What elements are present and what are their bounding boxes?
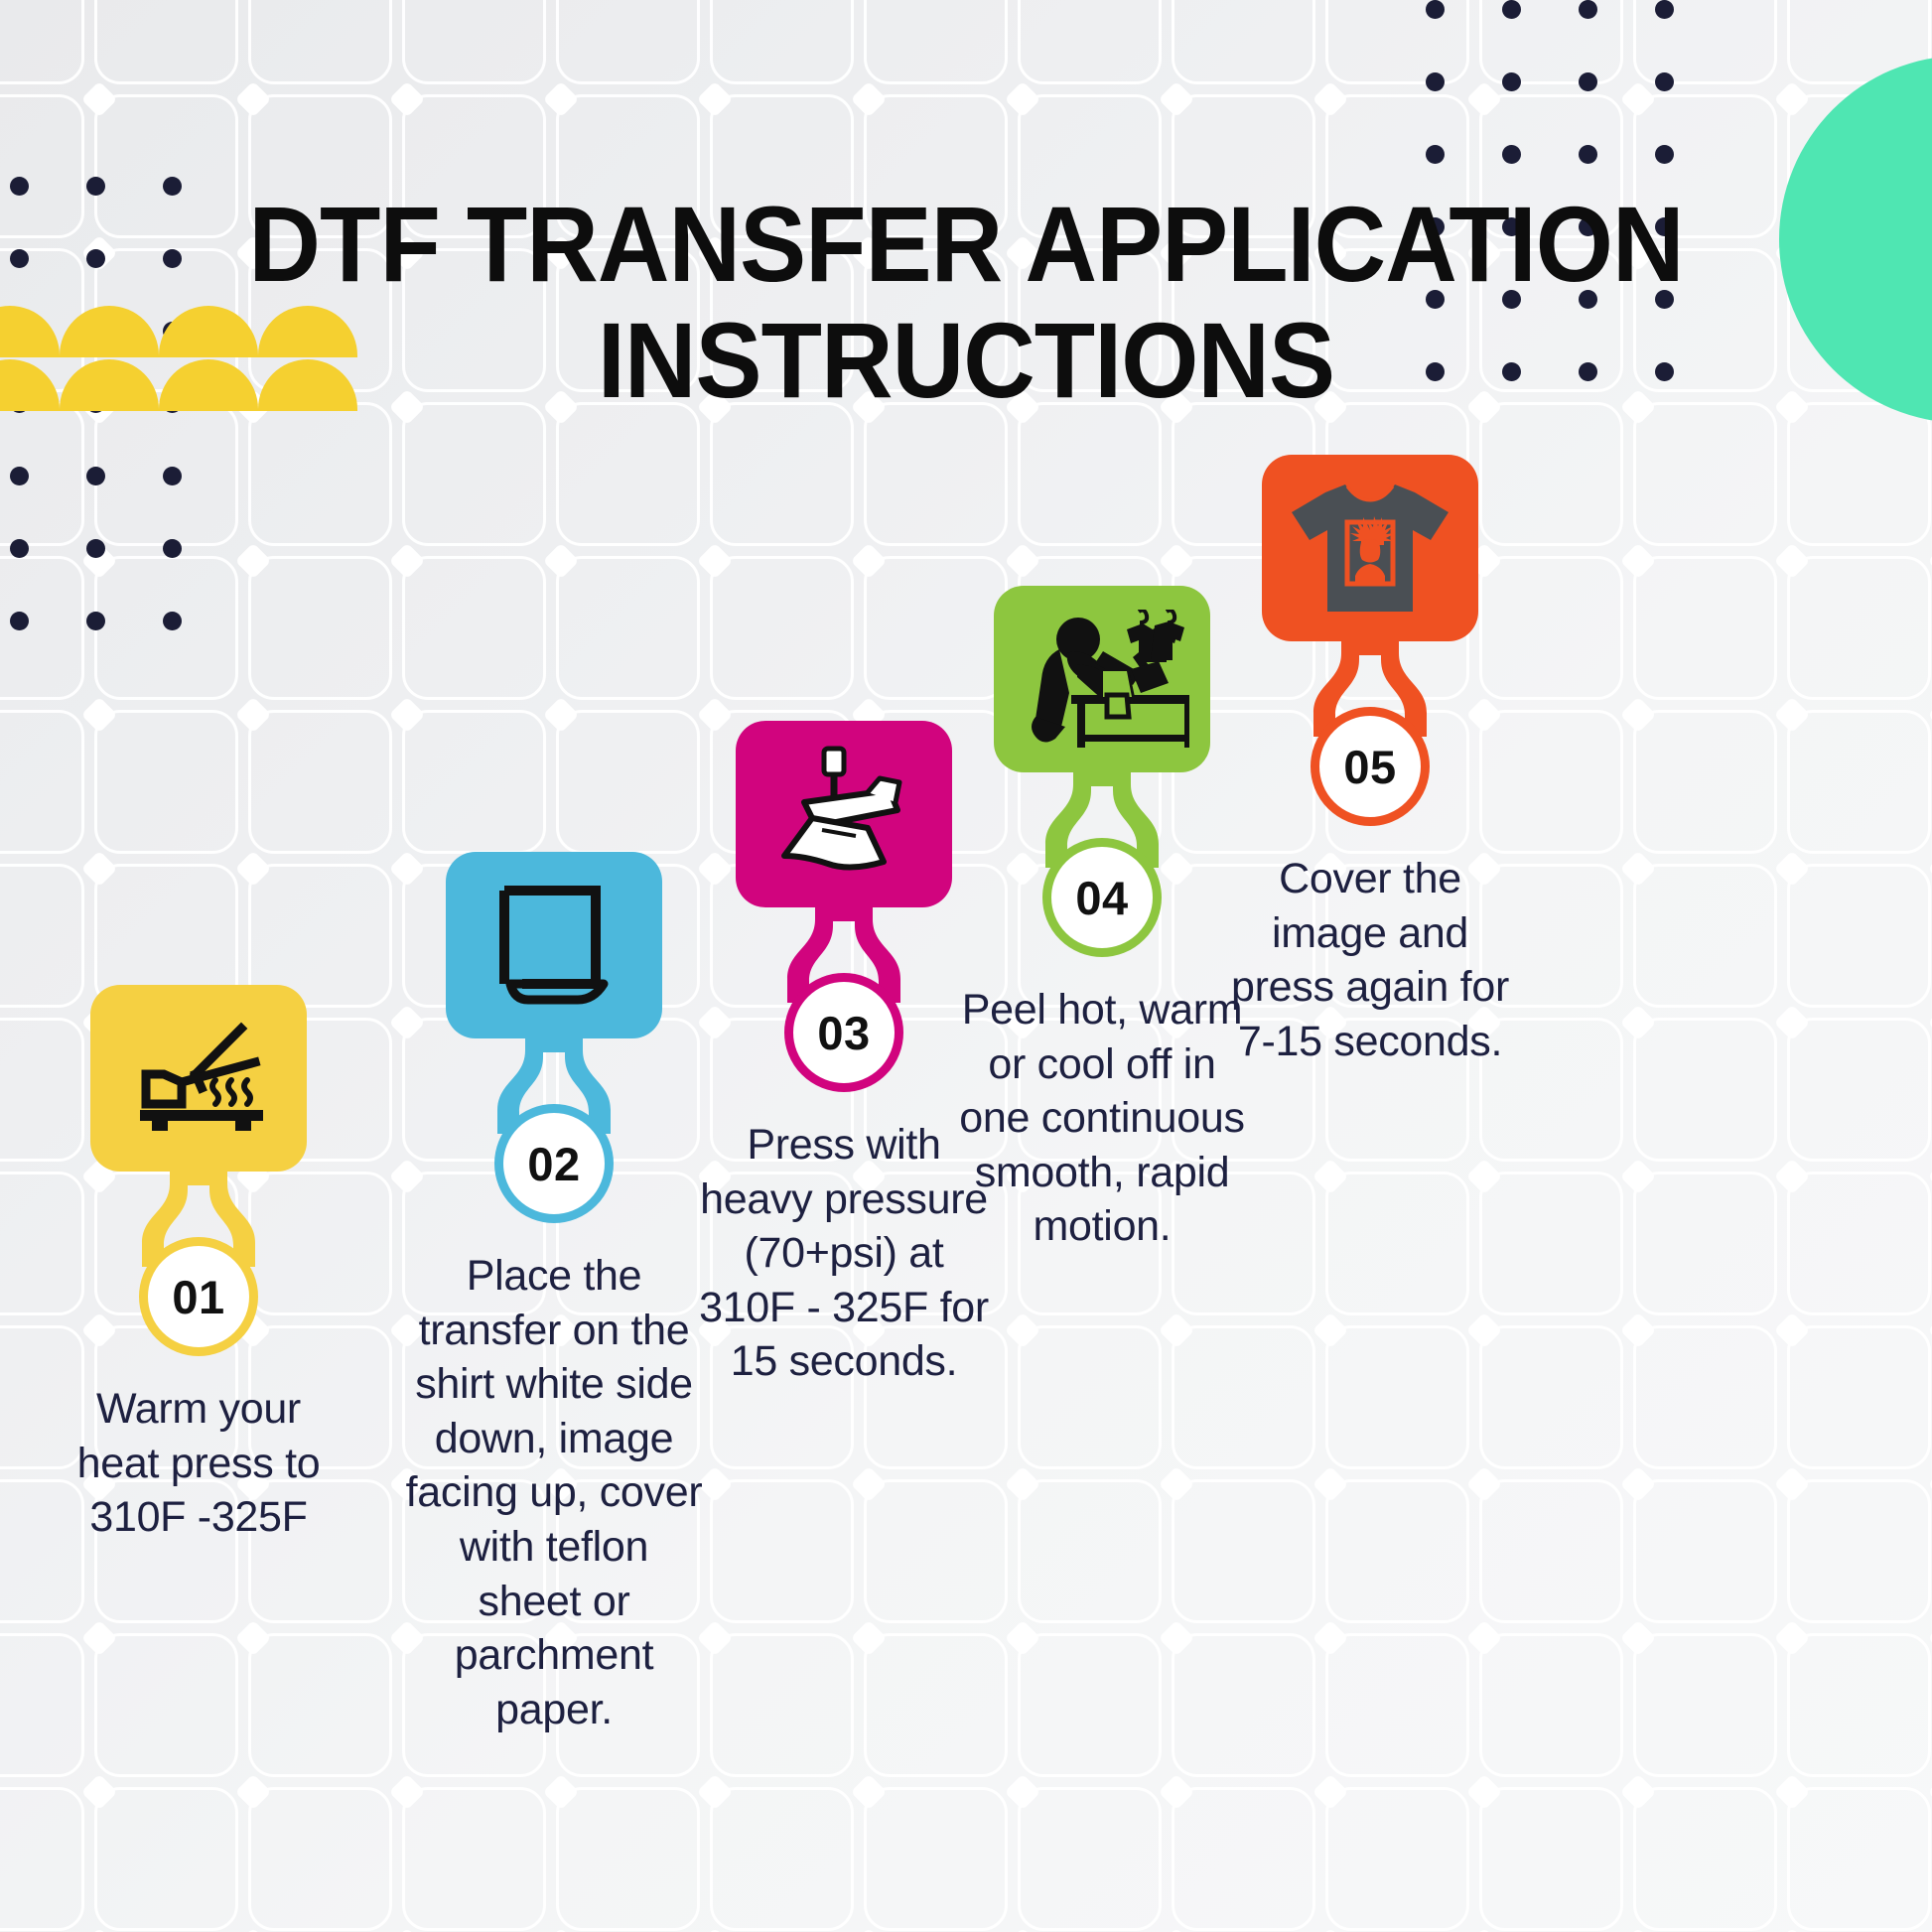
grid-tile: [710, 402, 854, 546]
grid-tile: [1479, 1479, 1623, 1623]
grid-node: [389, 697, 426, 734]
grid-tile: [1787, 402, 1931, 546]
decor-dot: [1655, 0, 1674, 19]
decor-dot: [1502, 145, 1521, 164]
grid-tile: [1172, 1787, 1315, 1931]
grid-node: [81, 1928, 118, 1932]
grid-node: [1928, 1620, 1932, 1657]
grid-node: [81, 697, 118, 734]
grid-tile: [556, 1787, 700, 1931]
grid-node: [851, 1620, 888, 1657]
grid-tile: [402, 402, 546, 546]
step-number-badge-03[interactable]: 03: [784, 973, 903, 1092]
grid-node: [1312, 1159, 1349, 1195]
grid-tile: [248, 710, 392, 854]
grid-node: [1005, 1774, 1041, 1811]
grid-node: [1466, 1928, 1503, 1932]
grid-node: [697, 81, 734, 118]
grid-node: [1928, 851, 1932, 888]
grid-tile: [1479, 0, 1623, 84]
grid-tile: [1787, 1172, 1931, 1315]
grid-tile: [1018, 1633, 1162, 1777]
grid-tile: [0, 710, 84, 854]
grid-tile: [0, 0, 84, 84]
grid-tile: [1787, 1633, 1931, 1777]
decor-dot: [163, 467, 182, 485]
grid-tile: [402, 556, 546, 700]
step-icon-card-02[interactable]: [446, 852, 662, 1038]
grid-node: [1005, 1928, 1041, 1932]
grid-node: [1774, 1466, 1811, 1503]
step-caption-05: Cover the image and press again for 7-15…: [1221, 852, 1519, 1068]
grid-node: [1774, 851, 1811, 888]
step-module-02[interactable]: 02Place the transfer on the shirt white …: [405, 852, 703, 1736]
grid-node: [1312, 1774, 1349, 1811]
decor-dot: [163, 539, 182, 558]
grid-tile: [248, 1633, 392, 1777]
grid-tile: [556, 402, 700, 546]
grid-node: [851, 1928, 888, 1932]
grid-node: [1005, 543, 1041, 580]
grid-node: [1466, 1774, 1503, 1811]
grid-node: [1312, 1620, 1349, 1657]
grid-node: [1928, 1774, 1932, 1811]
grid-node: [1620, 543, 1657, 580]
grid-node: [543, 1928, 580, 1932]
grid-node: [851, 81, 888, 118]
grid-tile: [1633, 864, 1777, 1008]
decor-dot: [1426, 72, 1445, 91]
step-number-badge-05[interactable]: 05: [1311, 707, 1430, 826]
decor-dot: [1655, 145, 1674, 164]
grid-tile: [1018, 0, 1162, 84]
decor-semicircle: [0, 359, 60, 411]
grid-node: [81, 1774, 118, 1811]
grid-node: [543, 81, 580, 118]
grid-tile: [1787, 556, 1931, 700]
decor-dot: [86, 467, 105, 485]
grid-tile: [864, 402, 1008, 546]
grid-tile: [1479, 1633, 1623, 1777]
decor-dot: [1502, 72, 1521, 91]
grid-tile: [1633, 1018, 1777, 1162]
decor-dot: [1426, 145, 1445, 164]
grid-tile: [1787, 1479, 1931, 1623]
grid-tile: [1325, 1325, 1469, 1469]
step-icon-card-01[interactable]: [90, 985, 307, 1172]
grid-tile: [1325, 0, 1469, 84]
grid-node: [1312, 1312, 1349, 1349]
step-number-label: 05: [1343, 740, 1396, 794]
grid-tile: [1633, 1633, 1777, 1777]
step-caption-04: Peel hot, warm or cool off in one contin…: [953, 983, 1251, 1254]
decor-dot: [10, 539, 29, 558]
grid-node: [235, 81, 272, 118]
grid-node: [235, 851, 272, 888]
grid-tile: [1787, 710, 1931, 854]
step-number-label: 01: [172, 1270, 224, 1324]
decor-dot: [1426, 0, 1445, 19]
grid-tile: [1633, 1479, 1777, 1623]
grid-node: [1928, 543, 1932, 580]
grid-node: [697, 1928, 734, 1932]
grid-tile: [1479, 1787, 1623, 1931]
grid-node: [543, 697, 580, 734]
grid-node: [1620, 1312, 1657, 1349]
grid-tile: [556, 710, 700, 854]
grid-tile: [864, 1787, 1008, 1931]
heat-press-pressing-icon: [764, 745, 923, 884]
grid-tile: [1325, 1787, 1469, 1931]
grid-node: [1928, 697, 1932, 734]
grid-node: [235, 697, 272, 734]
decor-dot: [1655, 72, 1674, 91]
grid-tile: [94, 710, 238, 854]
step-number-label: 02: [527, 1137, 580, 1191]
grid-node: [1466, 1159, 1503, 1195]
grid-node: [1312, 81, 1349, 118]
grid-tile: [1018, 1787, 1162, 1931]
grid-tile: [1787, 864, 1931, 1008]
grid-node: [1774, 81, 1811, 118]
grid-node: [1466, 1466, 1503, 1503]
grid-tile: [1018, 402, 1162, 546]
step-icon-card-04[interactable]: [994, 586, 1210, 772]
grid-node: [1774, 543, 1811, 580]
grid-tile: [248, 402, 392, 546]
grid-node: [851, 1466, 888, 1503]
decor-dot: [1579, 0, 1597, 19]
grid-node: [1005, 1466, 1041, 1503]
grid-tile: [1325, 1172, 1469, 1315]
grid-node: [543, 1774, 580, 1811]
grid-tile: [1172, 1325, 1315, 1469]
grid-node: [1928, 1159, 1932, 1195]
grid-node: [1620, 1005, 1657, 1041]
grid-tile: [94, 1633, 238, 1777]
grid-node: [1620, 697, 1657, 734]
grid-tile: [1633, 710, 1777, 854]
grid-node: [1005, 1620, 1041, 1657]
grid-node: [1774, 1005, 1811, 1041]
step-module-03[interactable]: 03Press with heavy pressure (70+psi) at …: [695, 721, 993, 1389]
grid-tile: [94, 0, 238, 84]
decor-semicircle: [0, 306, 60, 357]
grid-node: [1928, 1005, 1932, 1041]
grid-tile: [1787, 1018, 1931, 1162]
step-number-badge-04[interactable]: 04: [1042, 838, 1162, 957]
grid-tile: [710, 556, 854, 700]
grid-node: [1774, 697, 1811, 734]
grid-tile: [1172, 0, 1315, 84]
page-title: DTF TRANSFER APPLICATION INSTRUCTIONS: [68, 187, 1864, 418]
grid-node: [697, 543, 734, 580]
grid-node: [1620, 1466, 1657, 1503]
decor-dot: [10, 612, 29, 630]
grid-tile: [1172, 1479, 1315, 1623]
grid-tile: [710, 1479, 854, 1623]
grid-tile: [1787, 1325, 1931, 1469]
grid-node: [1466, 81, 1503, 118]
grid-tile: [1018, 1479, 1162, 1623]
grid-node: [1312, 1466, 1349, 1503]
grid-node: [81, 851, 118, 888]
grid-tile: [0, 1633, 84, 1777]
printed-tshirt-icon: [1286, 479, 1454, 618]
decor-dot: [10, 467, 29, 485]
step-number-label: 04: [1075, 871, 1128, 925]
grid-node: [1620, 1159, 1657, 1195]
grid-node: [235, 1928, 272, 1932]
grid-node: [1774, 1928, 1811, 1932]
decor-dot: [10, 249, 29, 268]
grid-node: [1620, 851, 1657, 888]
grid-tile: [1787, 1787, 1931, 1931]
grid-node: [389, 81, 426, 118]
grid-node: [1466, 1620, 1503, 1657]
heat-press-icon: [124, 1019, 273, 1138]
grid-node: [1774, 1159, 1811, 1195]
grid-node: [235, 543, 272, 580]
grid-tile: [248, 1787, 392, 1931]
grid-node: [389, 1928, 426, 1932]
grid-tile: [710, 1787, 854, 1931]
person-peeling-transfer-icon: [1016, 610, 1189, 749]
decor-dot: [10, 177, 29, 196]
grid-tile: [248, 0, 392, 84]
grid-tile: [1633, 402, 1777, 546]
grid-tile: [864, 1633, 1008, 1777]
step-module-01[interactable]: 01Warm your heat press to 310F -325F: [50, 985, 347, 1545]
grid-tile: [556, 0, 700, 84]
grid-node: [1312, 1928, 1349, 1932]
grid-tile: [1479, 1172, 1623, 1315]
grid-node: [1620, 1774, 1657, 1811]
grid-tile: [1479, 1325, 1623, 1469]
grid-tile: [864, 1479, 1008, 1623]
grid-tile: [94, 1787, 238, 1931]
grid-node: [543, 543, 580, 580]
grid-tile: [1325, 1479, 1469, 1623]
decor-dot: [86, 539, 105, 558]
infographic-page: DTF TRANSFER APPLICATION INSTRUCTIONS 01…: [0, 0, 1932, 1932]
grid-tile: [710, 0, 854, 84]
grid-node: [1928, 1928, 1932, 1932]
step-number-badge-02[interactable]: 02: [494, 1104, 614, 1223]
grid-tile: [402, 0, 546, 84]
grid-node: [81, 1620, 118, 1657]
decor-dot: [163, 612, 182, 630]
grid-node: [1774, 1312, 1811, 1349]
grid-tile: [248, 556, 392, 700]
grid-node: [1159, 1466, 1195, 1503]
grid-node: [389, 543, 426, 580]
grid-node: [1159, 81, 1195, 118]
grid-node: [1620, 1928, 1657, 1932]
grid-node: [389, 1774, 426, 1811]
step-icon-card-03[interactable]: [736, 721, 952, 907]
grid-node: [1005, 81, 1041, 118]
grid-tile: [1018, 1325, 1162, 1469]
step-module-04[interactable]: 04Peel hot, warm or cool off in one cont…: [953, 586, 1251, 1254]
step-caption-01: Warm your heat press to 310F -325F: [50, 1382, 347, 1545]
grid-node: [235, 1774, 272, 1811]
grid-node: [1159, 1928, 1195, 1932]
decor-dot: [1579, 145, 1597, 164]
grid-node: [81, 81, 118, 118]
grid-tile: [1633, 1325, 1777, 1469]
step-module-05[interactable]: 05Cover the image and press again for 7-…: [1221, 455, 1519, 1068]
grid-tile: [1172, 1633, 1315, 1777]
grid-node: [1466, 1312, 1503, 1349]
grid-tile: [1325, 1633, 1469, 1777]
decor-dot: [1579, 72, 1597, 91]
decor-dot: [1502, 0, 1521, 19]
grid-node: [697, 1774, 734, 1811]
grid-node: [1159, 1620, 1195, 1657]
grid-tile: [402, 1787, 546, 1931]
grid-node: [1928, 1466, 1932, 1503]
grid-node: [1774, 1620, 1811, 1657]
decor-dot: [86, 612, 105, 630]
grid-tile: [1633, 556, 1777, 700]
grid-node: [851, 1774, 888, 1811]
grid-node: [1774, 1774, 1811, 1811]
transfer-sheet-icon: [484, 881, 623, 1010]
grid-tile: [1633, 1172, 1777, 1315]
grid-node: [1928, 1312, 1932, 1349]
step-number-label: 03: [817, 1006, 870, 1060]
grid-tile: [0, 1787, 84, 1931]
grid-tile: [864, 0, 1008, 84]
step-number-badge-01[interactable]: 01: [139, 1237, 258, 1356]
grid-node: [1159, 1312, 1195, 1349]
grid-node: [1620, 1620, 1657, 1657]
grid-node: [851, 543, 888, 580]
grid-tile: [402, 710, 546, 854]
grid-tile: [710, 1633, 854, 1777]
grid-node: [1159, 543, 1195, 580]
grid-tile: [556, 556, 700, 700]
grid-node: [1005, 1312, 1041, 1349]
step-caption-02: Place the transfer on the shirt white si…: [405, 1249, 703, 1736]
step-icon-card-05[interactable]: [1262, 455, 1478, 641]
grid-node: [1159, 1774, 1195, 1811]
grid-tile: [1633, 1787, 1777, 1931]
grid-node: [235, 1620, 272, 1657]
step-caption-03: Press with heavy pressure (70+psi) at 31…: [695, 1118, 993, 1389]
grid-node: [1620, 81, 1657, 118]
